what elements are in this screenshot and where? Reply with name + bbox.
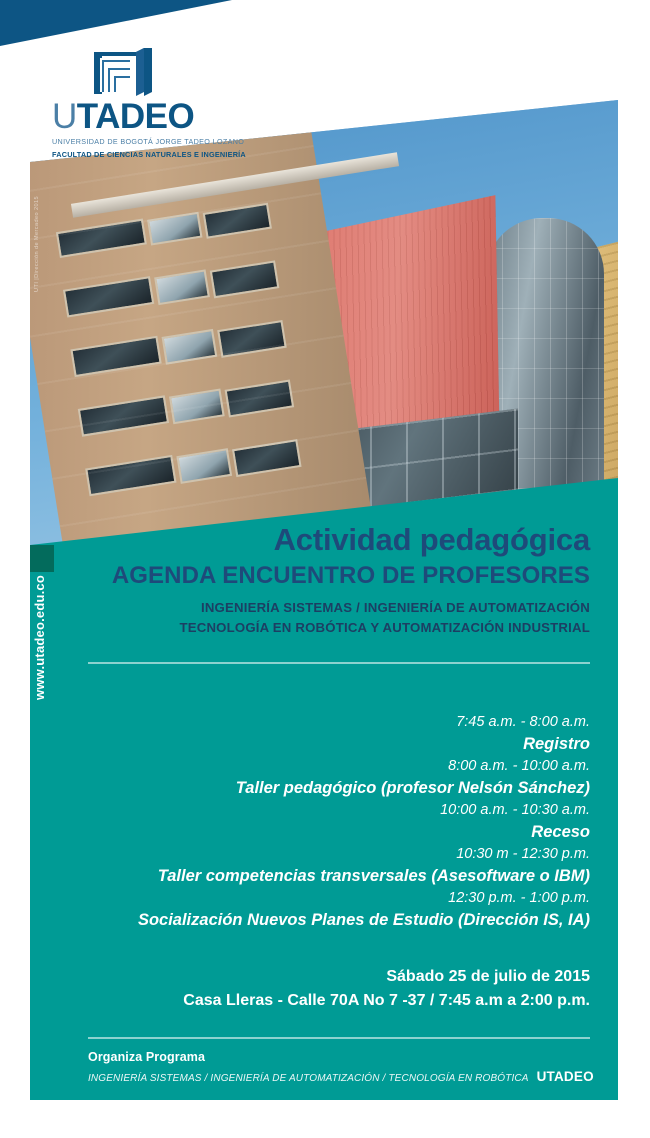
schedule-time: 8:00 a.m. - 10:00 a.m. — [138, 756, 590, 777]
page-subtitle: AGENDA ENCUENTRO DE PROFESORES — [112, 562, 590, 590]
schedule-time: 12:30 p.m. - 1:00 p.m. — [138, 888, 590, 909]
schedule-time: 10:30 m - 12:30 p.m. — [138, 844, 590, 865]
event-details: Sábado 25 de julio de 2015 Casa Lleras -… — [183, 965, 590, 1013]
logo-word-tadeo: TADEO — [77, 97, 194, 136]
poster-footer: Organiza Programa INGENIERÍA SISTEMAS / … — [88, 1050, 590, 1084]
divider-top — [88, 662, 590, 664]
logo-university-line: UNIVERSIDAD DE BOGOTÁ JORGE TADEO LOZANO — [52, 137, 272, 146]
programs-line-2: TECNOLOGÍA EN ROBÓTICA Y AUTOMATIZACIÓN … — [179, 620, 590, 635]
divider-bottom — [88, 1037, 590, 1039]
poster-content: Actividad pedagógica AGENDA ENCUENTRO DE… — [30, 470, 618, 1100]
schedule-list: 7:45 a.m. - 8:00 a.m. Registro 8:00 a.m.… — [138, 712, 590, 932]
schedule-time: 7:45 a.m. - 8:00 a.m. — [138, 712, 590, 733]
footer-brand: UTADEO — [537, 1069, 594, 1084]
page-title: Actividad pedagógica — [274, 522, 590, 558]
blue-corner-accent — [0, 0, 232, 46]
schedule-activity: Registro — [138, 733, 590, 756]
event-venue: Casa Lleras - Calle 70A No 7 -37 / 7:45 … — [183, 989, 590, 1013]
utadeo-book-mark-icon — [92, 48, 154, 96]
schedule-activity: Taller competencias transversales (Aseso… — [138, 865, 590, 888]
schedule-activity: Taller pedagógico (profesor Nelsón Sánch… — [138, 777, 590, 800]
schedule-activity: Receso — [138, 821, 590, 844]
utadeo-wordmark: UTADEO — [52, 99, 272, 134]
schedule-activity: Socialización Nuevos Planes de Estudio (… — [138, 909, 590, 932]
logo-letter-u: U — [52, 97, 77, 136]
utadeo-logo: UTADEO UNIVERSIDAD DE BOGOTÁ JORGE TADEO… — [52, 48, 272, 159]
organizer-label: Organiza Programa — [88, 1050, 590, 1064]
logo-faculty-line: FACULTAD DE CIENCIAS NATURALES E INGENIE… — [52, 150, 272, 159]
event-date: Sábado 25 de julio de 2015 — [183, 965, 590, 989]
footer-programs: INGENIERÍA SISTEMAS / INGENIERÍA DE AUTO… — [88, 1073, 529, 1084]
programs-line-1: INGENIERÍA SISTEMAS / INGENIERÍA DE AUTO… — [201, 600, 590, 615]
photo-credit-text: UTI |Dirección de Mercadeo 2015 — [34, 196, 40, 292]
schedule-time: 10:00 a.m. - 10:30 a.m. — [138, 800, 590, 821]
